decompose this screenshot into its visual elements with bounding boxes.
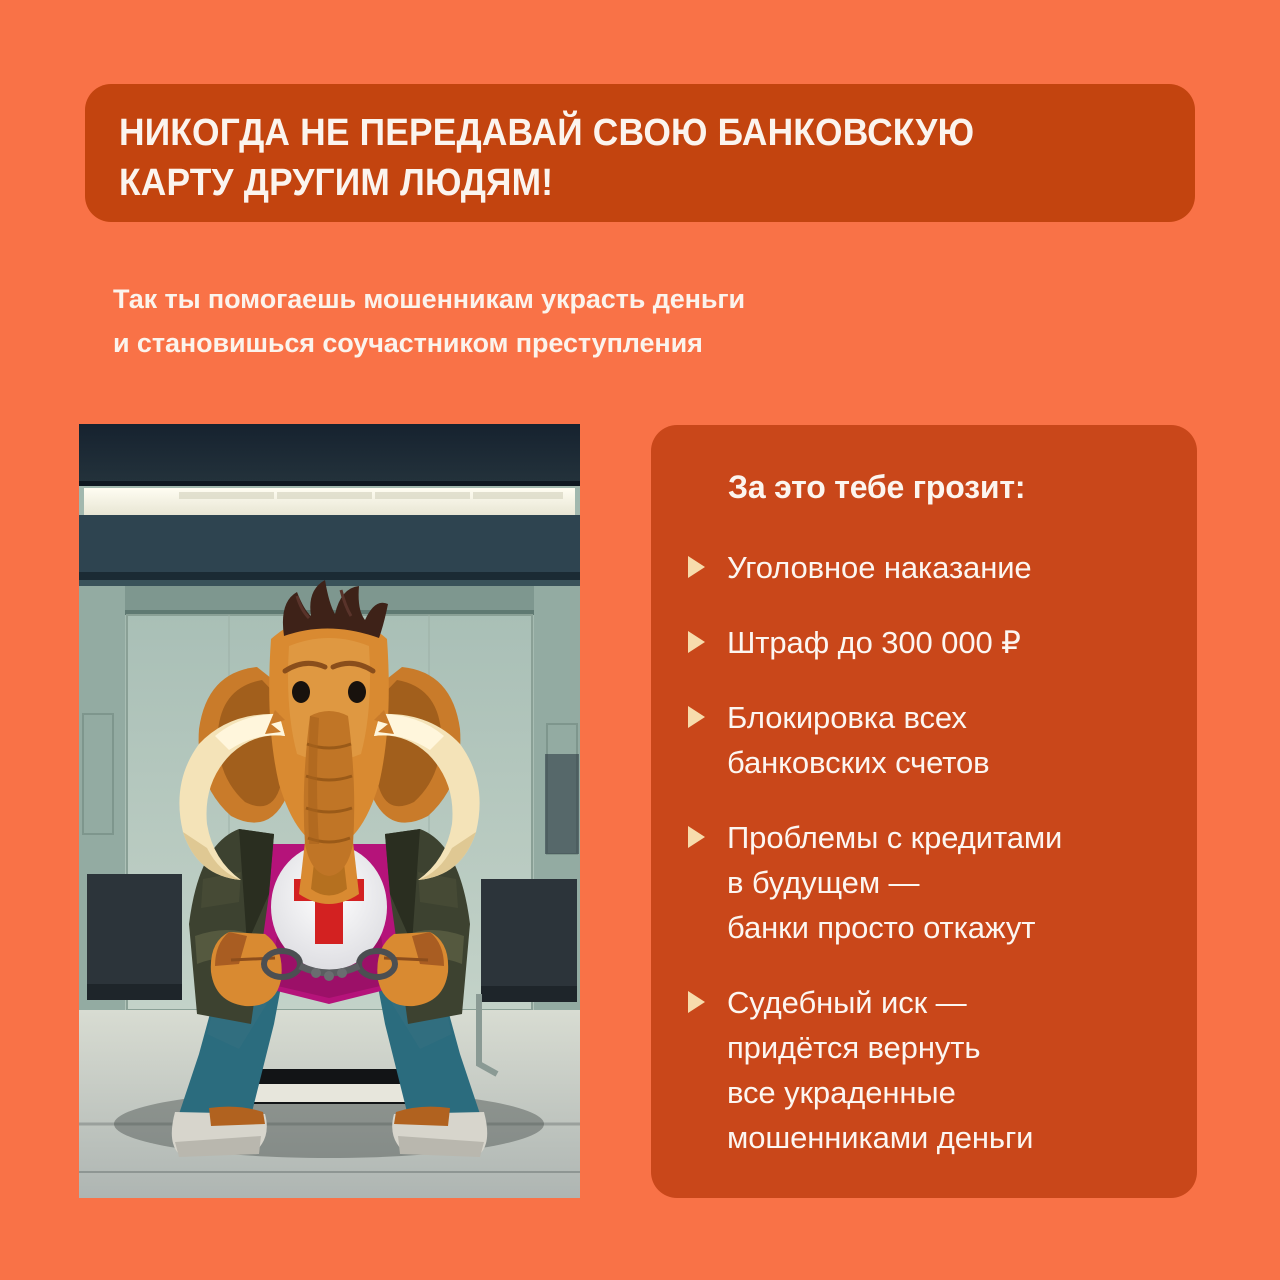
list-item-label: Блокировка всех банковских счетов [727, 695, 990, 785]
threat-panel: За это тебе грозит: Уголовное наказание … [651, 425, 1197, 1198]
list-item-label: Штраф до 300 000 ₽ [727, 620, 1021, 665]
threat-list: Уголовное наказание Штраф до 300 000 ₽ Б… [688, 545, 1169, 1160]
list-item-label: Уголовное наказание [727, 545, 1032, 590]
mammoth-illustration [79, 424, 580, 1198]
list-item: Проблемы с кредитами в будущем — банки п… [688, 815, 1169, 950]
triangle-bullet-icon [688, 826, 705, 848]
panel-heading: За это тебе грозит: [688, 467, 1169, 507]
triangle-bullet-icon [688, 991, 705, 1013]
list-item: Штраф до 300 000 ₽ [688, 620, 1169, 665]
list-item-label: Судебный иск — придётся вернуть все укра… [727, 980, 1033, 1160]
list-item: Судебный иск — придётся вернуть все укра… [688, 980, 1169, 1160]
triangle-bullet-icon [688, 631, 705, 653]
page-title: НИКОГДА НЕ ПЕРЕДАВАЙ СВОЮ БАНКОВСКУЮ КАР… [119, 108, 1088, 208]
list-item-label: Проблемы с кредитами в будущем — банки п… [727, 815, 1062, 950]
list-item: Уголовное наказание [688, 545, 1169, 590]
list-item: Блокировка всех банковских счетов [688, 695, 1169, 785]
header-banner: НИКОГДА НЕ ПЕРЕДАВАЙ СВОЮ БАНКОВСКУЮ КАР… [85, 84, 1195, 222]
illustration-svg [79, 424, 580, 1198]
triangle-bullet-icon [688, 556, 705, 578]
subtitle-text: Так ты помогаешь мошенникам украсть день… [113, 277, 1073, 365]
triangle-bullet-icon [688, 706, 705, 728]
